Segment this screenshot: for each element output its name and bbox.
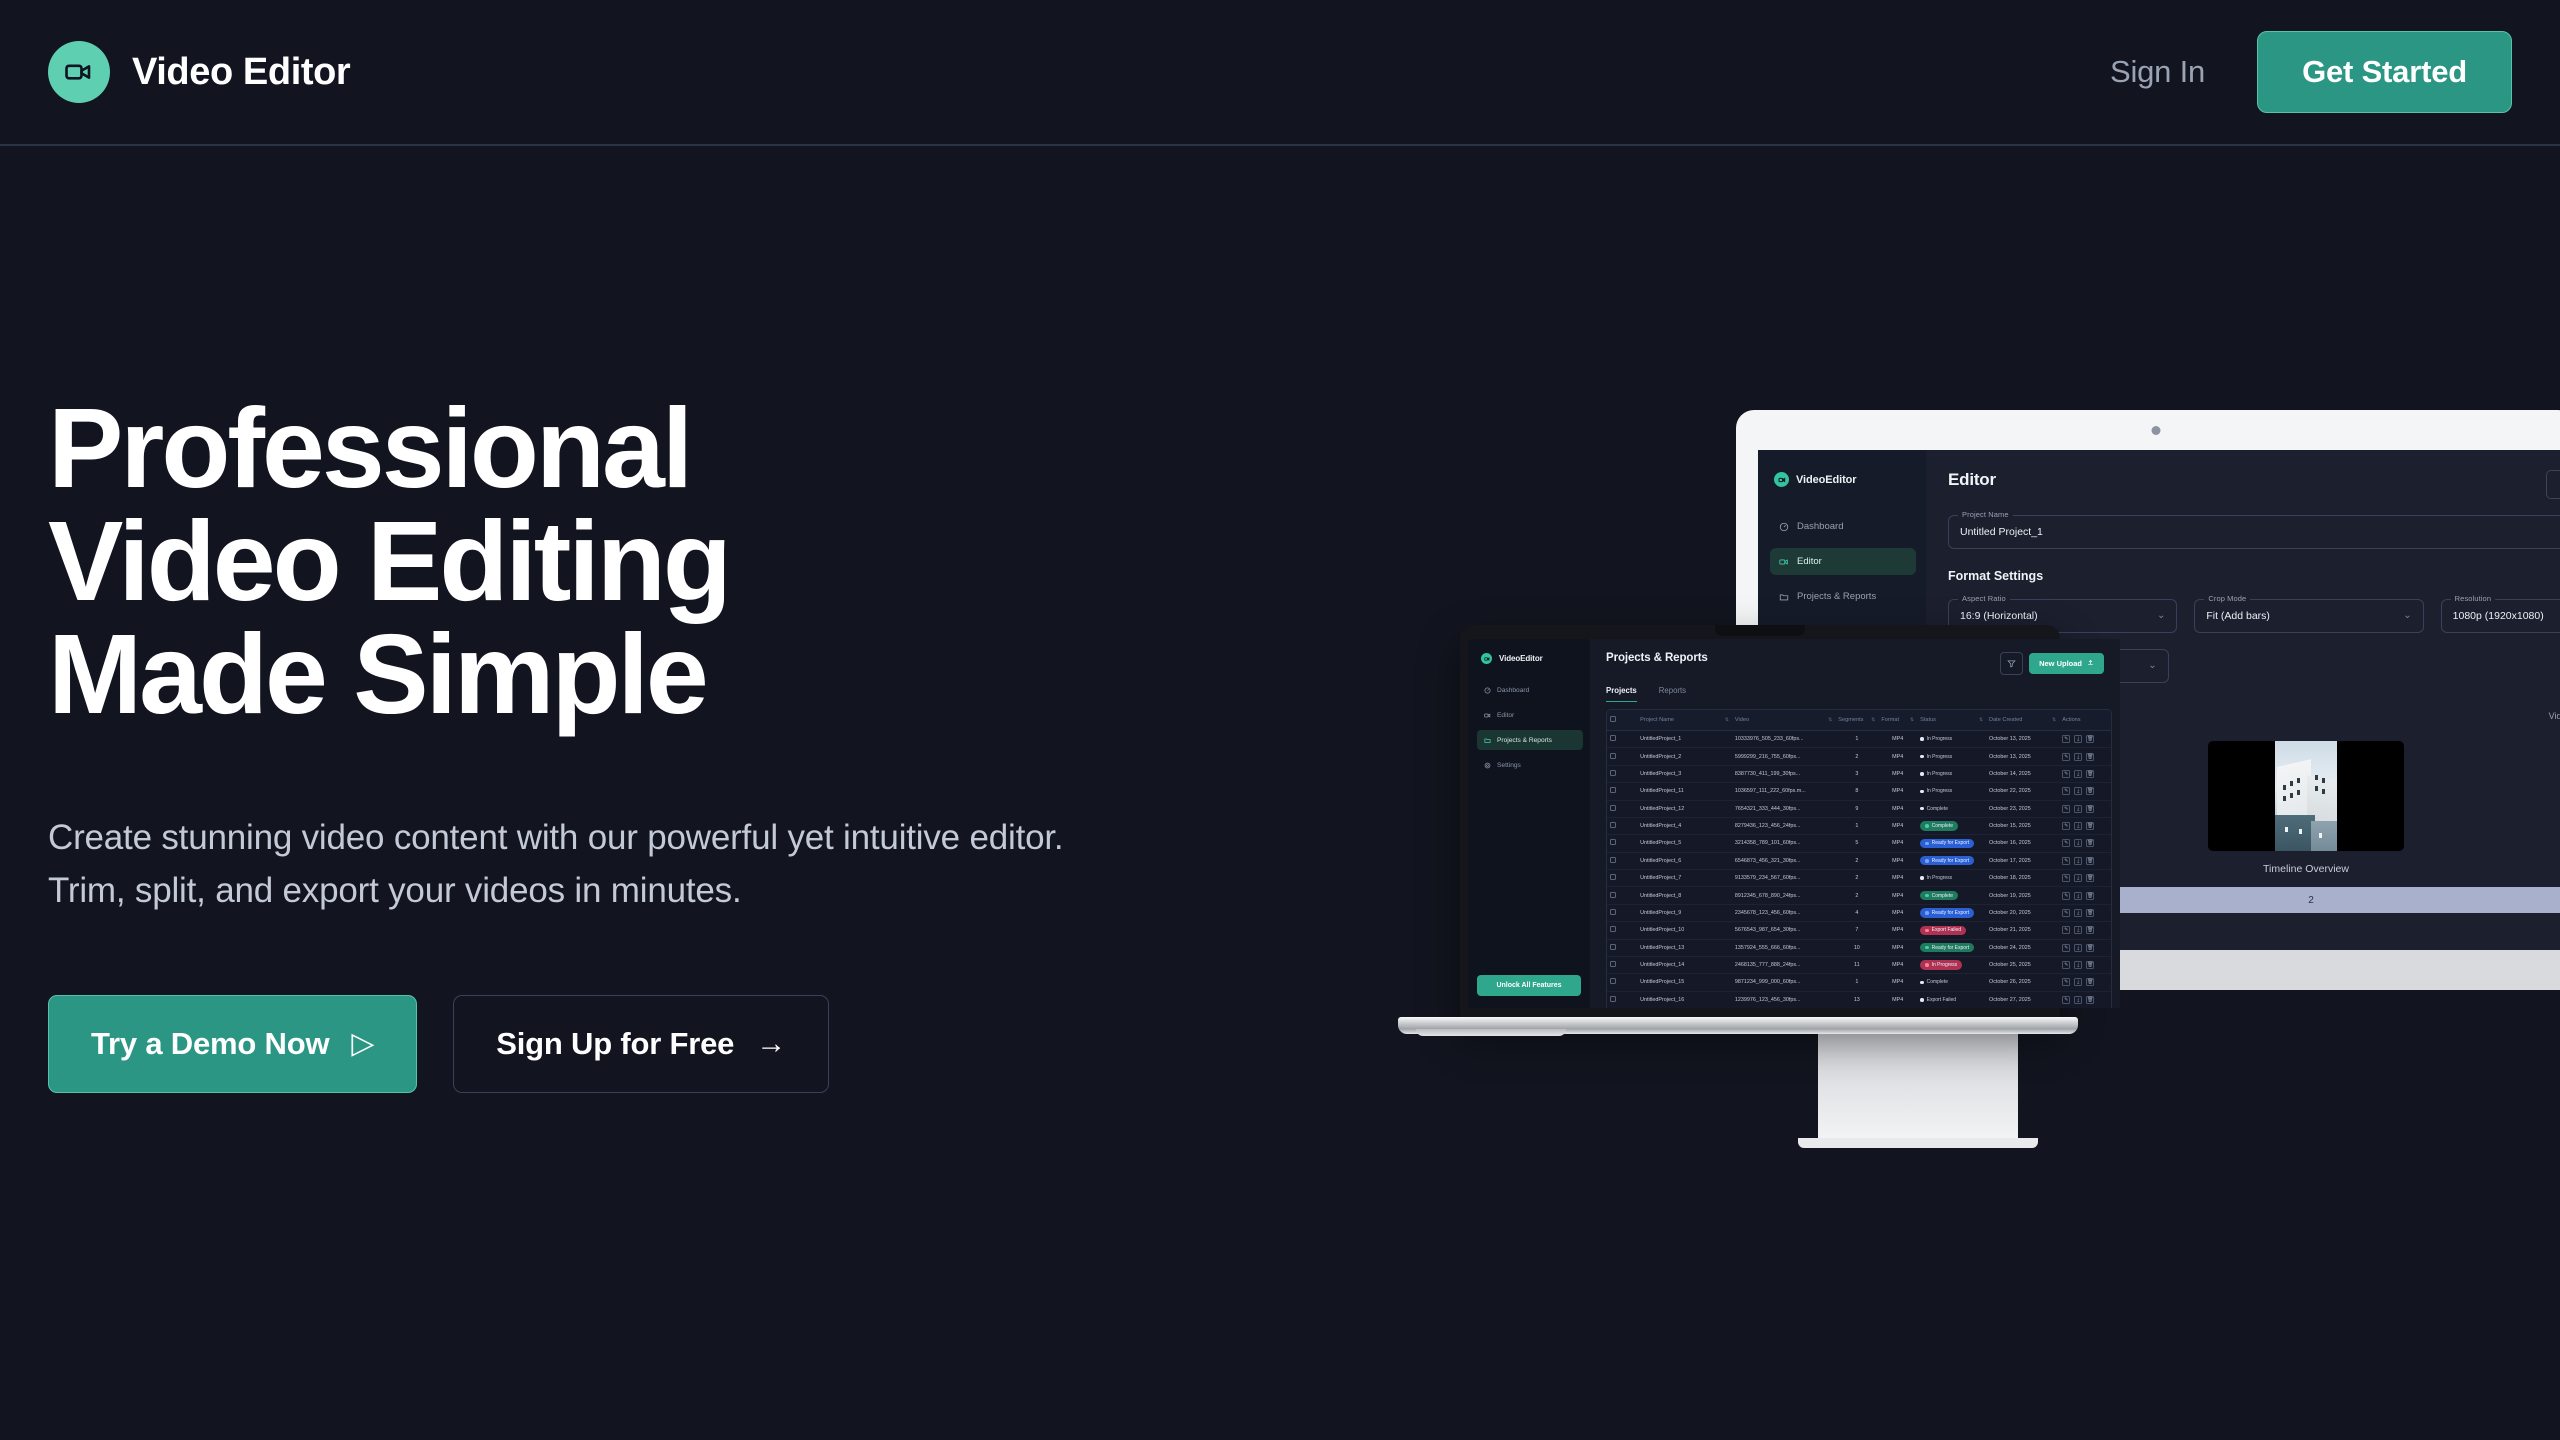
folder-icon <box>1483 736 1491 744</box>
cell-actions[interactable]: ✎⤓🗑 <box>2059 939 2111 956</box>
row-checkbox-cell[interactable] <box>1607 956 1637 973</box>
cell-date-created: October 26, 2025 <box>1986 974 2059 991</box>
edit-icon[interactable]: ✎ <box>2062 996 2070 1004</box>
column-header[interactable] <box>1607 710 1637 731</box>
aspect-ratio-value: 16:9 (Horizontal) <box>1960 610 2038 622</box>
row-checkbox-cell[interactable] <box>1607 800 1637 817</box>
row-checkbox[interactable] <box>1610 822 1616 828</box>
video-camera-icon <box>1778 556 1789 567</box>
speedometer-icon <box>1483 686 1491 694</box>
sort-icon[interactable]: ⇅ <box>1979 717 1983 723</box>
cell-project-name: UntitledProject_9 <box>1637 904 1732 921</box>
row-checkbox-cell[interactable] <box>1607 748 1637 765</box>
sidebar-label: Projects & Reports <box>1497 737 1552 744</box>
cell-project-name: UntitledProject_11 <box>1637 783 1732 800</box>
building-shape <box>2311 821 2337 851</box>
upload-icon <box>2087 659 2094 668</box>
row-checkbox-cell[interactable] <box>1607 731 1637 748</box>
project-name-field[interactable]: Project Name Untitled Project_1 <box>1948 515 2560 549</box>
get-started-button[interactable]: Get Started <box>2257 31 2512 113</box>
download-icon[interactable]: ⤓ <box>2074 839 2082 847</box>
table-row[interactable]: UntitledProject_159871234_999_000_60fps.… <box>1607 974 2111 991</box>
resolution-label: Resolution <box>2451 594 2495 603</box>
column-header[interactable]: Date Created⇅ <box>1986 710 2059 731</box>
cell-project-name: UntitledProject_2 <box>1637 748 1732 765</box>
page-title: Professional Video Editing Made Simple <box>48 392 1108 731</box>
edit-icon[interactable]: ✎ <box>2062 892 2070 900</box>
status-badge: In Progress <box>1920 752 1957 761</box>
edit-icon[interactable]: ✎ <box>2062 857 2070 865</box>
sidebar-item-dashboard[interactable]: Dashboard <box>1477 680 1583 700</box>
editor-header-actions: Save Exp <box>2546 470 2560 499</box>
edit-icon[interactable]: ✎ <box>2062 874 2070 882</box>
cell-date-created: October 16, 2025 <box>1986 835 2059 852</box>
edit-icon[interactable]: ✎ <box>2062 805 2070 813</box>
editor-header: Editor Save Exp <box>1948 470 2560 499</box>
sidebar-label: Dashboard <box>1797 521 1843 532</box>
sidebar-label: Editor <box>1497 712 1514 719</box>
folder-icon <box>1778 591 1789 602</box>
row-checkbox-cell[interactable] <box>1607 974 1637 991</box>
delete-icon[interactable]: 🗑 <box>2086 944 2094 952</box>
status-badge: Complete <box>1920 821 1958 830</box>
cell-actions[interactable]: ✎⤓🗑 <box>2059 904 2111 921</box>
crop-mode-label: Crop Mode <box>2204 594 2250 603</box>
cell-date-created: October 22, 2025 <box>1986 783 2059 800</box>
cell-format: MP4 <box>1878 783 1917 800</box>
edit-icon[interactable]: ✎ <box>2062 787 2070 795</box>
video-preview-frame[interactable] <box>2208 741 2404 851</box>
status-badge: Complete <box>1920 804 1953 813</box>
row-checkbox[interactable] <box>1610 978 1616 984</box>
cell-status: Complete <box>1917 817 1986 834</box>
column-header[interactable]: Segments⇅ <box>1835 710 1878 731</box>
download-icon[interactable]: ⤓ <box>2074 770 2082 778</box>
cell-segments: 7 <box>1835 922 1878 939</box>
download-icon[interactable]: ⤓ <box>2074 944 2082 952</box>
cell-format: MP4 <box>1878 956 1917 973</box>
cell-status: Complete <box>1917 974 1986 991</box>
cell-status: In Progress <box>1917 870 1986 887</box>
status-badge: Ready for Export <box>1920 856 1974 865</box>
hero-title-line-1: Professional <box>48 392 1108 505</box>
status-badge: In Progress <box>1920 874 1957 883</box>
cell-segments: 8 <box>1835 783 1878 800</box>
brand-logo[interactable]: Video Editor <box>48 41 350 103</box>
row-checkbox[interactable] <box>1610 857 1616 863</box>
cell-format: MP4 <box>1878 817 1917 834</box>
status-badge: Ready for Export <box>1920 839 1974 848</box>
cell-status: Ready for Export <box>1917 939 1986 956</box>
site-header: Video Editor Sign In Get Started <box>0 0 2560 146</box>
status-badge: In Progress <box>1920 787 1957 796</box>
cell-status: Export Failed <box>1917 922 1986 939</box>
cell-segments: 13 <box>1835 991 1878 1008</box>
cell-video: 3214358_789_101_60fps... <box>1732 835 1835 852</box>
video-camera-icon <box>1774 472 1789 487</box>
table-row[interactable]: UntitledProject_142468135_777_888_24fps.… <box>1607 956 2111 973</box>
download-icon[interactable]: ⤓ <box>2074 735 2082 743</box>
row-checkbox-cell[interactable] <box>1607 922 1637 939</box>
row-checkbox[interactable] <box>1610 874 1616 880</box>
status-badge: Ready for Export <box>1920 908 1974 917</box>
sign-up-free-button[interactable]: Sign Up for Free → <box>453 995 829 1093</box>
save-button[interactable]: Save <box>2546 470 2560 499</box>
cell-status: In Progress <box>1917 765 1986 782</box>
header-actions: Sign In Get Started <box>2110 31 2512 113</box>
table-row[interactable]: UntitledProject_110333976_505_233_60fps.… <box>1607 731 2111 748</box>
download-icon[interactable]: ⤓ <box>2074 926 2082 934</box>
delete-icon[interactable]: 🗑 <box>2086 839 2094 847</box>
edit-icon[interactable]: ✎ <box>2062 822 2070 830</box>
cell-video: 6546873_456_321_30fps... <box>1732 852 1835 869</box>
cell-project-name: UntitledProject_1 <box>1637 731 1732 748</box>
cell-actions[interactable]: ✎⤓🗑 <box>2059 835 2111 852</box>
cell-date-created: October 13, 2025 <box>1986 748 2059 765</box>
delete-icon[interactable]: 🗑 <box>2086 822 2094 830</box>
status-badge: In Progress <box>1920 960 1962 969</box>
cell-status: In Progress <box>1917 748 1986 765</box>
select-all-checkbox[interactable] <box>1610 716 1616 722</box>
delete-icon[interactable]: 🗑 <box>2086 892 2094 900</box>
cell-format: MP4 <box>1878 748 1917 765</box>
row-checkbox[interactable] <box>1610 753 1616 759</box>
crop-mode-value: Fit (Add bars) <box>2206 610 2270 622</box>
editor-page-title: Editor <box>1948 470 1996 490</box>
resolution-select[interactable]: Resolution 1080p (1920x1080) ⌄ <box>2441 599 2560 633</box>
cell-status: Ready for Export <box>1917 852 1986 869</box>
laptop-app-sidebar: VideoEditor Dashboard Editor Projects & … <box>1468 639 1590 1008</box>
delete-icon[interactable]: 🗑 <box>2086 874 2094 882</box>
new-upload-button[interactable]: New Upload <box>2029 653 2104 674</box>
cell-status: In Progress <box>1917 956 1986 973</box>
table-row[interactable]: UntitledProject_127654321_333_444_30fps.… <box>1607 800 2111 817</box>
cell-actions[interactable]: ✎⤓🗑 <box>2059 817 2111 834</box>
projects-table: Project Name⇅Video⇅Segments⇅Format⇅Statu… <box>1606 709 2112 1008</box>
cell-status: Export Failed <box>1917 991 1986 1008</box>
cell-project-name: UntitledProject_4 <box>1637 817 1732 834</box>
status-badge: Export Failed <box>1920 995 1961 1004</box>
table-row[interactable]: UntitledProject_79133579_234_567_60fps..… <box>1607 870 2111 887</box>
cell-actions[interactable]: ✎⤓🗑 <box>2059 765 2111 782</box>
row-checkbox[interactable] <box>1610 909 1616 915</box>
crop-mode-select[interactable]: Crop Mode Fit (Add bars) ⌄ <box>2194 599 2423 633</box>
video-camera-icon <box>1481 653 1492 664</box>
brand-name: Video Editor <box>132 51 350 94</box>
row-checkbox-cell[interactable] <box>1607 939 1637 956</box>
cell-format: MP4 <box>1878 974 1917 991</box>
row-checkbox[interactable] <box>1610 787 1616 793</box>
cell-actions[interactable]: ✎⤓🗑 <box>2059 887 2111 904</box>
table-row[interactable]: UntitledProject_66546873_456_321_30fps..… <box>1607 852 2111 869</box>
cell-video: 9133579_234_567_60fps... <box>1732 870 1835 887</box>
cell-segments: 11 <box>1835 956 1878 973</box>
row-checkbox-cell[interactable] <box>1607 835 1637 852</box>
row-checkbox-cell[interactable] <box>1607 904 1637 921</box>
sidebar-item-projects-reports[interactable]: Projects & Reports <box>1770 583 1916 610</box>
chevron-down-icon: ⌄ <box>2148 661 2156 671</box>
download-icon[interactable]: ⤓ <box>2074 874 2082 882</box>
video-camera-icon <box>48 41 110 103</box>
table-row[interactable]: UntitledProject_105676543_987_654_30fps.… <box>1607 922 2111 939</box>
cell-project-name: UntitledProject_16 <box>1637 991 1732 1008</box>
status-badge: In Progress <box>1920 769 1957 778</box>
gear-icon <box>1483 761 1491 769</box>
download-icon[interactable]: ⤓ <box>2074 978 2082 986</box>
row-checkbox-cell[interactable] <box>1607 991 1637 1008</box>
tab-projects[interactable]: Projects <box>1606 686 1637 702</box>
chevron-down-icon: ⌄ <box>2403 611 2411 621</box>
download-icon[interactable]: ⤓ <box>2074 805 2082 813</box>
video-preview-thumbnail <box>2275 741 2337 851</box>
row-checkbox-cell[interactable] <box>1607 765 1637 782</box>
table-row[interactable]: UntitledProject_88912345_678_890_24fps..… <box>1607 887 2111 904</box>
cell-actions[interactable]: ✎⤓🗑 <box>2059 870 2111 887</box>
download-icon[interactable]: ⤓ <box>2074 753 2082 761</box>
monitor-app-brand: VideoEditor <box>1770 472 1916 487</box>
unlock-all-features-button[interactable]: Unlock All Features <box>1477 975 1581 996</box>
video-player-size-control[interactable]: Video player size <box>2549 711 2560 721</box>
cell-segments: 3 <box>1835 765 1878 782</box>
cell-segments: 2 <box>1835 852 1878 869</box>
edit-icon[interactable]: ✎ <box>2062 753 2070 761</box>
cell-segments: 4 <box>1835 904 1878 921</box>
delete-icon[interactable]: 🗑 <box>2086 926 2094 934</box>
cell-actions[interactable]: ✎⤓🗑 <box>2059 922 2111 939</box>
row-checkbox[interactable] <box>1610 839 1616 845</box>
sort-icon[interactable]: ⇅ <box>1871 717 1875 723</box>
delete-icon[interactable]: 🗑 <box>2086 909 2094 917</box>
projects-tabs: Projects Reports <box>1606 686 2120 702</box>
cell-format: MP4 <box>1878 991 1917 1008</box>
arrow-right-icon: → <box>756 1029 786 1059</box>
laptop-app-brand: VideoEditor <box>1477 653 1583 664</box>
download-icon[interactable]: ⤓ <box>2074 822 2082 830</box>
delete-icon[interactable]: 🗑 <box>2086 753 2094 761</box>
cell-format: MP4 <box>1878 800 1917 817</box>
status-badge: Ready for Export <box>1920 943 1974 952</box>
row-checkbox[interactable] <box>1610 961 1616 967</box>
building-shape <box>2275 815 2315 851</box>
sort-icon[interactable]: ⇅ <box>2052 717 2056 723</box>
new-upload-label: New Upload <box>2039 659 2082 668</box>
sidebar-item-editor[interactable]: Editor <box>1770 548 1916 575</box>
cell-actions[interactable]: ✎⤓🗑 <box>2059 783 2111 800</box>
column-header[interactable]: Format⇅ <box>1878 710 1917 731</box>
row-checkbox[interactable] <box>1610 926 1616 932</box>
cell-date-created: October 23, 2025 <box>1986 800 2059 817</box>
cell-project-name: UntitledProject_3 <box>1637 765 1732 782</box>
delete-icon[interactable]: 🗑 <box>2086 978 2094 986</box>
cell-status: Ready for Export <box>1917 904 1986 921</box>
cell-actions[interactable]: ✎⤓🗑 <box>2059 731 2111 748</box>
sort-icon[interactable]: ⇅ <box>1910 717 1914 723</box>
edit-icon[interactable]: ✎ <box>2062 909 2070 917</box>
hero-section: Professional Video Editing Made Simple C… <box>48 392 1108 1093</box>
cell-date-created: October 15, 2025 <box>1986 817 2059 834</box>
row-checkbox-cell[interactable] <box>1607 852 1637 869</box>
delete-icon[interactable]: 🗑 <box>2086 996 2094 1004</box>
cell-actions[interactable]: ✎⤓🗑 <box>2059 974 2111 991</box>
cell-date-created: October 25, 2025 <box>1986 956 2059 973</box>
sign-in-link[interactable]: Sign In <box>2110 54 2205 90</box>
cell-format: MP4 <box>1878 765 1917 782</box>
sort-icon[interactable]: ⇅ <box>1828 717 1832 723</box>
column-header[interactable]: Video⇅ <box>1732 710 1835 731</box>
table-row[interactable]: UntitledProject_161239976_123_456_30fps.… <box>1607 991 2111 1008</box>
row-checkbox[interactable] <box>1610 996 1616 1002</box>
table-header-row: Project Name⇅Video⇅Segments⇅Format⇅Statu… <box>1607 710 2111 731</box>
cell-date-created: October 17, 2025 <box>1986 852 2059 869</box>
cell-date-created: October 13, 2025 <box>1986 731 2059 748</box>
cell-status: In Progress <box>1917 731 1986 748</box>
edit-icon[interactable]: ✎ <box>2062 926 2070 934</box>
sidebar-label: Editor <box>1797 556 1822 567</box>
table-row[interactable]: UntitledProject_53214358_789_101_60fps..… <box>1607 835 2111 852</box>
cell-date-created: October 19, 2025 <box>1986 887 2059 904</box>
cell-project-name: UntitledProject_13 <box>1637 939 1732 956</box>
delete-icon[interactable]: 🗑 <box>2086 857 2094 865</box>
table-row[interactable]: UntitledProject_92345678_123_456_60fps..… <box>1607 904 2111 921</box>
edit-icon[interactable]: ✎ <box>2062 770 2070 778</box>
edit-icon[interactable]: ✎ <box>2062 944 2070 952</box>
sidebar-item-projects-reports[interactable]: Projects & Reports <box>1477 730 1583 750</box>
row-checkbox-cell[interactable] <box>1607 870 1637 887</box>
delete-icon[interactable]: 🗑 <box>2086 770 2094 778</box>
cell-segments: 2 <box>1835 887 1878 904</box>
cell-status: Complete <box>1917 800 1986 817</box>
cell-segments: 9 <box>1835 800 1878 817</box>
status-badge: Complete <box>1920 891 1958 900</box>
cell-segments: 5 <box>1835 835 1878 852</box>
sidebar-item-dashboard[interactable]: Dashboard <box>1770 513 1916 540</box>
delete-icon[interactable]: 🗑 <box>2086 805 2094 813</box>
status-badge: Complete <box>1920 978 1953 987</box>
cell-actions[interactable]: ✎⤓🗑 <box>2059 956 2111 973</box>
edit-icon[interactable]: ✎ <box>2062 735 2070 743</box>
sidebar-item-editor[interactable]: Editor <box>1477 705 1583 725</box>
laptop-mockup: VideoEditor Dashboard Editor Projects & … <box>1440 625 2060 1055</box>
cell-video: 1036597_111_222_60fps.m... <box>1732 783 1835 800</box>
edit-icon[interactable]: ✎ <box>2062 839 2070 847</box>
funnel-icon[interactable] <box>2000 652 2023 675</box>
projects-page-title: Projects & Reports <box>1606 652 1708 664</box>
laptop-lid: VideoEditor Dashboard Editor Projects & … <box>1460 625 2060 1020</box>
table-row[interactable]: UntitledProject_38387730_411_199_30fps..… <box>1607 765 2111 782</box>
cell-date-created: October 24, 2025 <box>1986 939 2059 956</box>
cell-actions[interactable]: ✎⤓🗑 <box>2059 800 2111 817</box>
row-checkbox[interactable] <box>1610 735 1616 741</box>
laptop-screen: VideoEditor Dashboard Editor Projects & … <box>1468 639 2120 1008</box>
table-row[interactable]: UntitledProject_131357924_555_666_60fps.… <box>1607 939 2111 956</box>
project-name-value: Untitled Project_1 <box>1960 526 2043 538</box>
cell-format: MP4 <box>1878 922 1917 939</box>
projects-header: Projects & Reports New Upload <box>1606 652 2120 675</box>
video-player-size-label: Video player size <box>2549 711 2560 721</box>
row-checkbox[interactable] <box>1610 944 1616 950</box>
download-icon[interactable]: ⤓ <box>2074 857 2082 865</box>
table-row[interactable]: UntitledProject_111036597_111_222_60fps.… <box>1607 783 2111 800</box>
cell-segments: 10 <box>1835 939 1878 956</box>
cell-status: In Progress <box>1917 783 1986 800</box>
cell-actions[interactable]: ✎⤓🗑 <box>2059 748 2111 765</box>
row-checkbox-cell[interactable] <box>1607 783 1637 800</box>
hero-title-line-3: Made Simple <box>48 618 1108 731</box>
cell-segments: 1 <box>1835 731 1878 748</box>
cell-project-name: UntitledProject_7 <box>1637 870 1732 887</box>
row-checkbox[interactable] <box>1610 805 1616 811</box>
download-icon[interactable]: ⤓ <box>2074 961 2082 969</box>
cell-date-created: October 20, 2025 <box>1986 904 2059 921</box>
tab-reports[interactable]: Reports <box>1659 686 1686 702</box>
cell-project-name: UntitledProject_10 <box>1637 922 1732 939</box>
delete-icon[interactable]: 🗑 <box>2086 735 2094 743</box>
table-row[interactable]: UntitledProject_48279436_123_456_24fps..… <box>1607 817 2111 834</box>
cell-video: 10333976_505_233_60fps... <box>1732 731 1835 748</box>
cell-project-name: UntitledProject_5 <box>1637 835 1732 852</box>
cell-date-created: October 18, 2025 <box>1986 870 2059 887</box>
table-row[interactable]: UntitledProject_25999299_216_755_60fps..… <box>1607 748 2111 765</box>
cell-project-name: UntitledProject_6 <box>1637 852 1732 869</box>
download-icon[interactable]: ⤓ <box>2074 996 2082 1004</box>
column-header[interactable]: Project Name⇅ <box>1637 710 1732 731</box>
cell-format: MP4 <box>1878 731 1917 748</box>
cell-format: MP4 <box>1878 904 1917 921</box>
cell-project-name: UntitledProject_14 <box>1637 956 1732 973</box>
cell-format: MP4 <box>1878 939 1917 956</box>
cell-actions[interactable]: ✎⤓🗑 <box>2059 991 2111 1008</box>
resolution-value: 1080p (1920x1080) <box>2453 610 2544 622</box>
edit-icon[interactable]: ✎ <box>2062 978 2070 986</box>
cell-video: 7654321_333_444_30fps... <box>1732 800 1835 817</box>
row-checkbox[interactable] <box>1610 892 1616 898</box>
cell-video: 9871234_999_000_60fps... <box>1732 974 1835 991</box>
column-header[interactable]: Status⇅ <box>1917 710 1986 731</box>
delete-icon[interactable]: 🗑 <box>2086 961 2094 969</box>
download-icon[interactable]: ⤓ <box>2074 787 2082 795</box>
try-demo-button[interactable]: Try a Demo Now ▷ <box>48 995 417 1093</box>
cell-status: Complete <box>1917 887 1986 904</box>
cell-segments: 2 <box>1835 748 1878 765</box>
sidebar-item-settings[interactable]: Settings <box>1477 755 1583 775</box>
edit-icon[interactable]: ✎ <box>2062 961 2070 969</box>
cell-video: 2345678_123_456_60fps... <box>1732 904 1835 921</box>
cell-format: MP4 <box>1878 887 1917 904</box>
cell-segments: 1 <box>1835 974 1878 991</box>
row-checkbox[interactable] <box>1610 770 1616 776</box>
download-icon[interactable]: ⤓ <box>2074 892 2082 900</box>
cell-actions[interactable]: ✎⤓🗑 <box>2059 852 2111 869</box>
column-header[interactable]: Actions <box>2059 710 2111 731</box>
laptop-app-brand-name: VideoEditor <box>1499 654 1543 663</box>
chevron-down-icon: ⌄ <box>2157 611 2165 621</box>
sidebar-label: Settings <box>1497 762 1521 769</box>
row-checkbox-cell[interactable] <box>1607 817 1637 834</box>
status-badge: Export Failed <box>1920 926 1966 935</box>
delete-icon[interactable]: 🗑 <box>2086 787 2094 795</box>
project-name-label: Project Name <box>1958 510 2013 519</box>
aspect-ratio-label: Aspect Ratio <box>1958 594 2010 603</box>
cell-format: MP4 <box>1878 870 1917 887</box>
sort-icon[interactable]: ⇅ <box>1725 717 1729 723</box>
row-checkbox-cell[interactable] <box>1607 887 1637 904</box>
cell-date-created: October 21, 2025 <box>1986 922 2059 939</box>
cell-video: 8912345_678_890_24fps... <box>1732 887 1835 904</box>
download-icon[interactable]: ⤓ <box>2074 909 2082 917</box>
hero-cta-group: Try a Demo Now ▷ Sign Up for Free → <box>48 995 1108 1093</box>
status-badge: In Progress <box>1920 735 1957 744</box>
sidebar-label: Dashboard <box>1497 687 1529 694</box>
